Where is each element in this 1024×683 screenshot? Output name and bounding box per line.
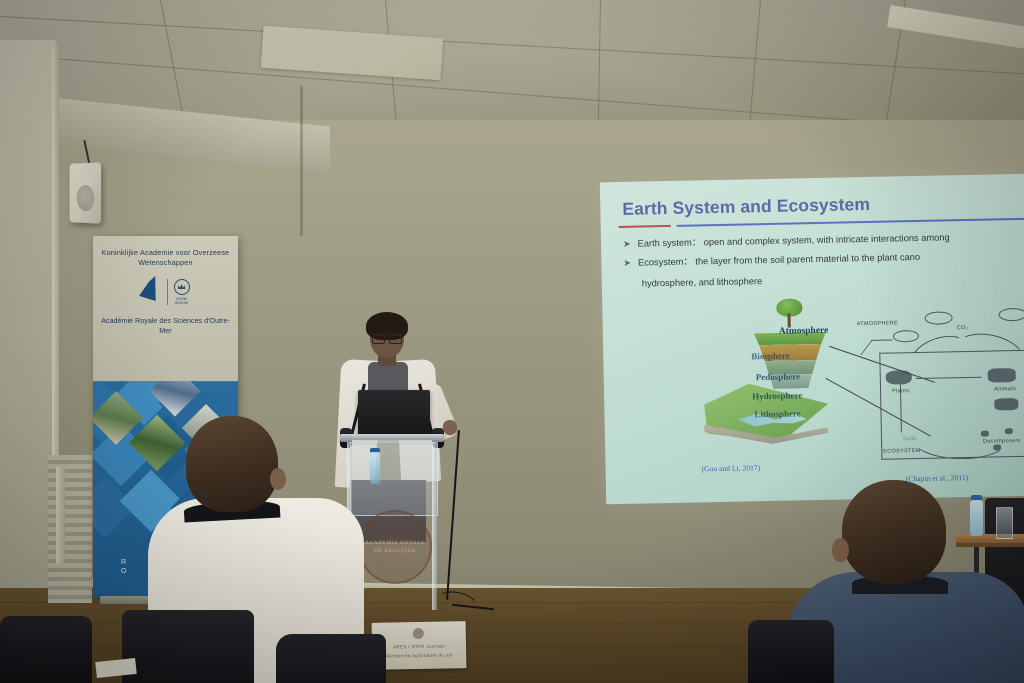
- logo-divider: [167, 279, 168, 305]
- ecosystem-schematic: ATMOSPHERE CO₂ Plants Animals Soils Deco…: [852, 306, 1024, 490]
- chair-front-right: [748, 620, 834, 683]
- crown-logo-icon: KAOW ARSOM: [171, 277, 193, 307]
- audience-2-ear: [832, 538, 849, 562]
- diagram-label-lithosphere: Lithosphere: [754, 408, 801, 419]
- diagram-label-biosphere: Biosphere: [751, 351, 790, 362]
- name-card-line-1: ARES / IFPRI Journée: [372, 643, 466, 650]
- banner-logo: KAOW ARSOM: [123, 274, 207, 310]
- tree-icon: [772, 298, 807, 329]
- banner-footer-text: R O: [121, 558, 126, 576]
- glasses-icon: [372, 334, 402, 342]
- bullet-2-text: Ecosystem： the layer from the soil paren…: [638, 251, 920, 270]
- slide-bullet-2: ➤ Ecosystem： the layer from the soil par…: [623, 251, 920, 270]
- plants-icon: [886, 370, 912, 385]
- audience-1-head: [186, 416, 278, 512]
- bullet-2-text-line2: hydrosphere, and lithosphere: [642, 275, 763, 290]
- speaker-cone-icon: [77, 185, 95, 211]
- audience-1-lap: [276, 634, 386, 683]
- lectern-post-right: [432, 442, 437, 610]
- diagram-label-hydrosphere: Hydrosphere: [752, 390, 802, 401]
- slide: Earth System and Ecosystem ➤ Earth syste…: [600, 174, 1024, 505]
- eco-label-co2: CO₂: [957, 325, 969, 331]
- name-card-seal-icon: [413, 628, 424, 639]
- name-card-line-2: Recherche agriculture du sol: [372, 652, 466, 659]
- slide-bullet-2-cont: hydrosphere, and lithosphere: [642, 275, 763, 290]
- bullet-1-text: Earth system： open and complex system, w…: [637, 231, 949, 250]
- conference-room-photo: Koninklijke Academie voor Overzeese Wete…: [0, 0, 1024, 683]
- title-rule-red: [619, 225, 671, 228]
- wall-corner: [300, 86, 303, 236]
- bullet-arrow-icon: ➤: [623, 257, 631, 269]
- logo-acronym: KAOW ARSOM: [171, 297, 193, 305]
- banner-title-fr: Académie Royale des Sciences d'Outre-Mer: [99, 316, 232, 336]
- ceiling-access-panel: [261, 26, 443, 80]
- chair-far-left: [0, 616, 92, 683]
- title-rule-blue: [677, 218, 1024, 227]
- cloud-icon: [924, 311, 952, 325]
- bullet-arrow-icon: ➤: [623, 238, 631, 250]
- projection-screen: Earth System and Ecosystem ➤ Earth syste…: [600, 174, 1024, 505]
- wall-speaker-icon: [70, 162, 102, 224]
- radiator: [48, 455, 92, 603]
- radiator-valve: [56, 466, 65, 564]
- audience-member-blue-polo: [818, 480, 1024, 683]
- cloud-icon: [998, 308, 1024, 322]
- audience-2-head: [842, 480, 946, 584]
- cloud-icon: [893, 330, 919, 343]
- eco-label-animals: Animals: [994, 386, 1016, 392]
- eco-label-atmosphere: ATMOSPHERE: [857, 320, 898, 327]
- slide-title: Earth System and Ecosystem: [622, 194, 870, 220]
- eco-label-ecosystem: ECOSYSTEM: [883, 448, 921, 455]
- sail-logo-icon: [138, 276, 164, 308]
- animals-icon: [994, 398, 1018, 410]
- slide-bullet-1: ➤ Earth system： open and complex system,…: [623, 231, 950, 251]
- slide-figure-area: Atmosphere Biosphere Pedosphere Hydrosph…: [602, 302, 1024, 505]
- ceiling-light-panel: [887, 5, 1024, 49]
- diagram-label-pedosphere: Pedosphere: [756, 371, 801, 382]
- banner-title-nl: Koninklijke Academie voor Overzeese Wete…: [99, 248, 232, 268]
- diagram-label-atmosphere: Atmosphere: [779, 326, 829, 337]
- left-diagram-citation: (Guo and Li, 2017): [701, 463, 760, 473]
- audience-1-ear: [270, 468, 286, 490]
- chair-front-left: [122, 610, 254, 683]
